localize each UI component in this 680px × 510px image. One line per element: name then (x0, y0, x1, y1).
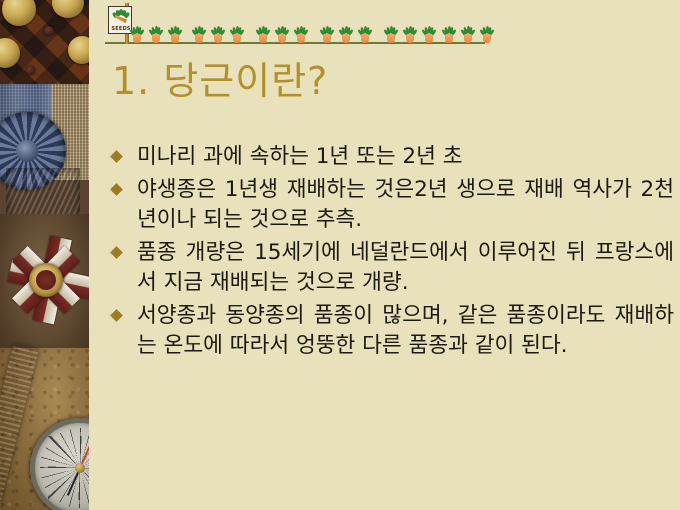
list-item: 미나리 과에 속하는 1년 또는 2년 초 (108, 142, 674, 172)
presentation-slide: SEEDS (0, 0, 680, 510)
carrot-row-group (131, 26, 181, 43)
carrot-plant (340, 26, 352, 43)
cross-medallion (29, 263, 63, 297)
carrot-row-group (443, 26, 493, 43)
carrot-plant (212, 26, 224, 43)
carrot-plant (257, 26, 269, 43)
carrot-plant (385, 26, 397, 43)
list-item: 품종 개량은 15세기에 네덜란드에서 이루어진 뒤 프랑스에서 지금 재배되는… (108, 238, 674, 298)
military-cross-medal (6, 232, 86, 328)
list-item-text: 서양종과 동양종의 품종이 많으며, 같은 품종이라도 재배하는 온도에 따라서… (137, 301, 674, 361)
carrot-plant (462, 26, 474, 43)
slide-header-banner: SEEDS (105, 0, 485, 50)
carrot-plant (423, 26, 435, 43)
list-item-text: 품종 개량은 15세기에 네덜란드에서 이루어진 뒤 프랑스에서 지금 재배되는… (137, 238, 674, 298)
carrot-plant (295, 26, 307, 43)
carrot-row-group (257, 26, 307, 43)
carrot-plant (321, 26, 333, 43)
antique-collage-photo (0, 0, 89, 510)
carrot-plant (193, 26, 205, 43)
diamond-bullet-icon (110, 309, 123, 322)
carrot-plant (276, 26, 288, 43)
list-item: 서양종과 동양종의 품종이 많으며, 같은 품종이라도 재배하는 온도에 따라서… (108, 301, 674, 361)
carrot-plant (404, 26, 416, 43)
signpost-board: SEEDS (108, 6, 132, 34)
list-item-text: 미나리 과에 속하는 1년 또는 2년 초 (137, 142, 674, 172)
rosette-center (16, 140, 38, 162)
dark-stud (26, 66, 35, 75)
compass-pivot (75, 463, 85, 473)
dark-stud (44, 26, 54, 36)
bullet-list: 미나리 과에 속하는 1년 또는 2년 초 야생종은 1년생 재배하는 것은2년… (108, 142, 674, 364)
carrot-row-group (385, 26, 435, 43)
carrot-plant (481, 26, 493, 43)
carrot-plant (443, 26, 455, 43)
page-title: 1. 당근이란? (112, 58, 652, 104)
carrot-plant (131, 26, 143, 43)
list-item: 야생종은 1년생 재배하는 것은2년 생으로 재배 역사가 2천년이나 되는 것… (108, 175, 674, 235)
carrot-icon (112, 9, 130, 25)
list-item-text: 야생종은 1년생 재배하는 것은2년 생으로 재배 역사가 2천년이나 되는 것… (137, 175, 674, 235)
gold-coin (68, 36, 89, 64)
diamond-bullet-icon (110, 183, 123, 196)
carrot-row-group (193, 26, 243, 43)
carrot-row-group (321, 26, 371, 43)
carrot-plant (150, 26, 162, 43)
diamond-bullet-icon (110, 150, 123, 163)
carrot-plant (231, 26, 243, 43)
carrot-plant (169, 26, 181, 43)
carrot-plant (359, 26, 371, 43)
diamond-bullet-icon (110, 246, 123, 259)
